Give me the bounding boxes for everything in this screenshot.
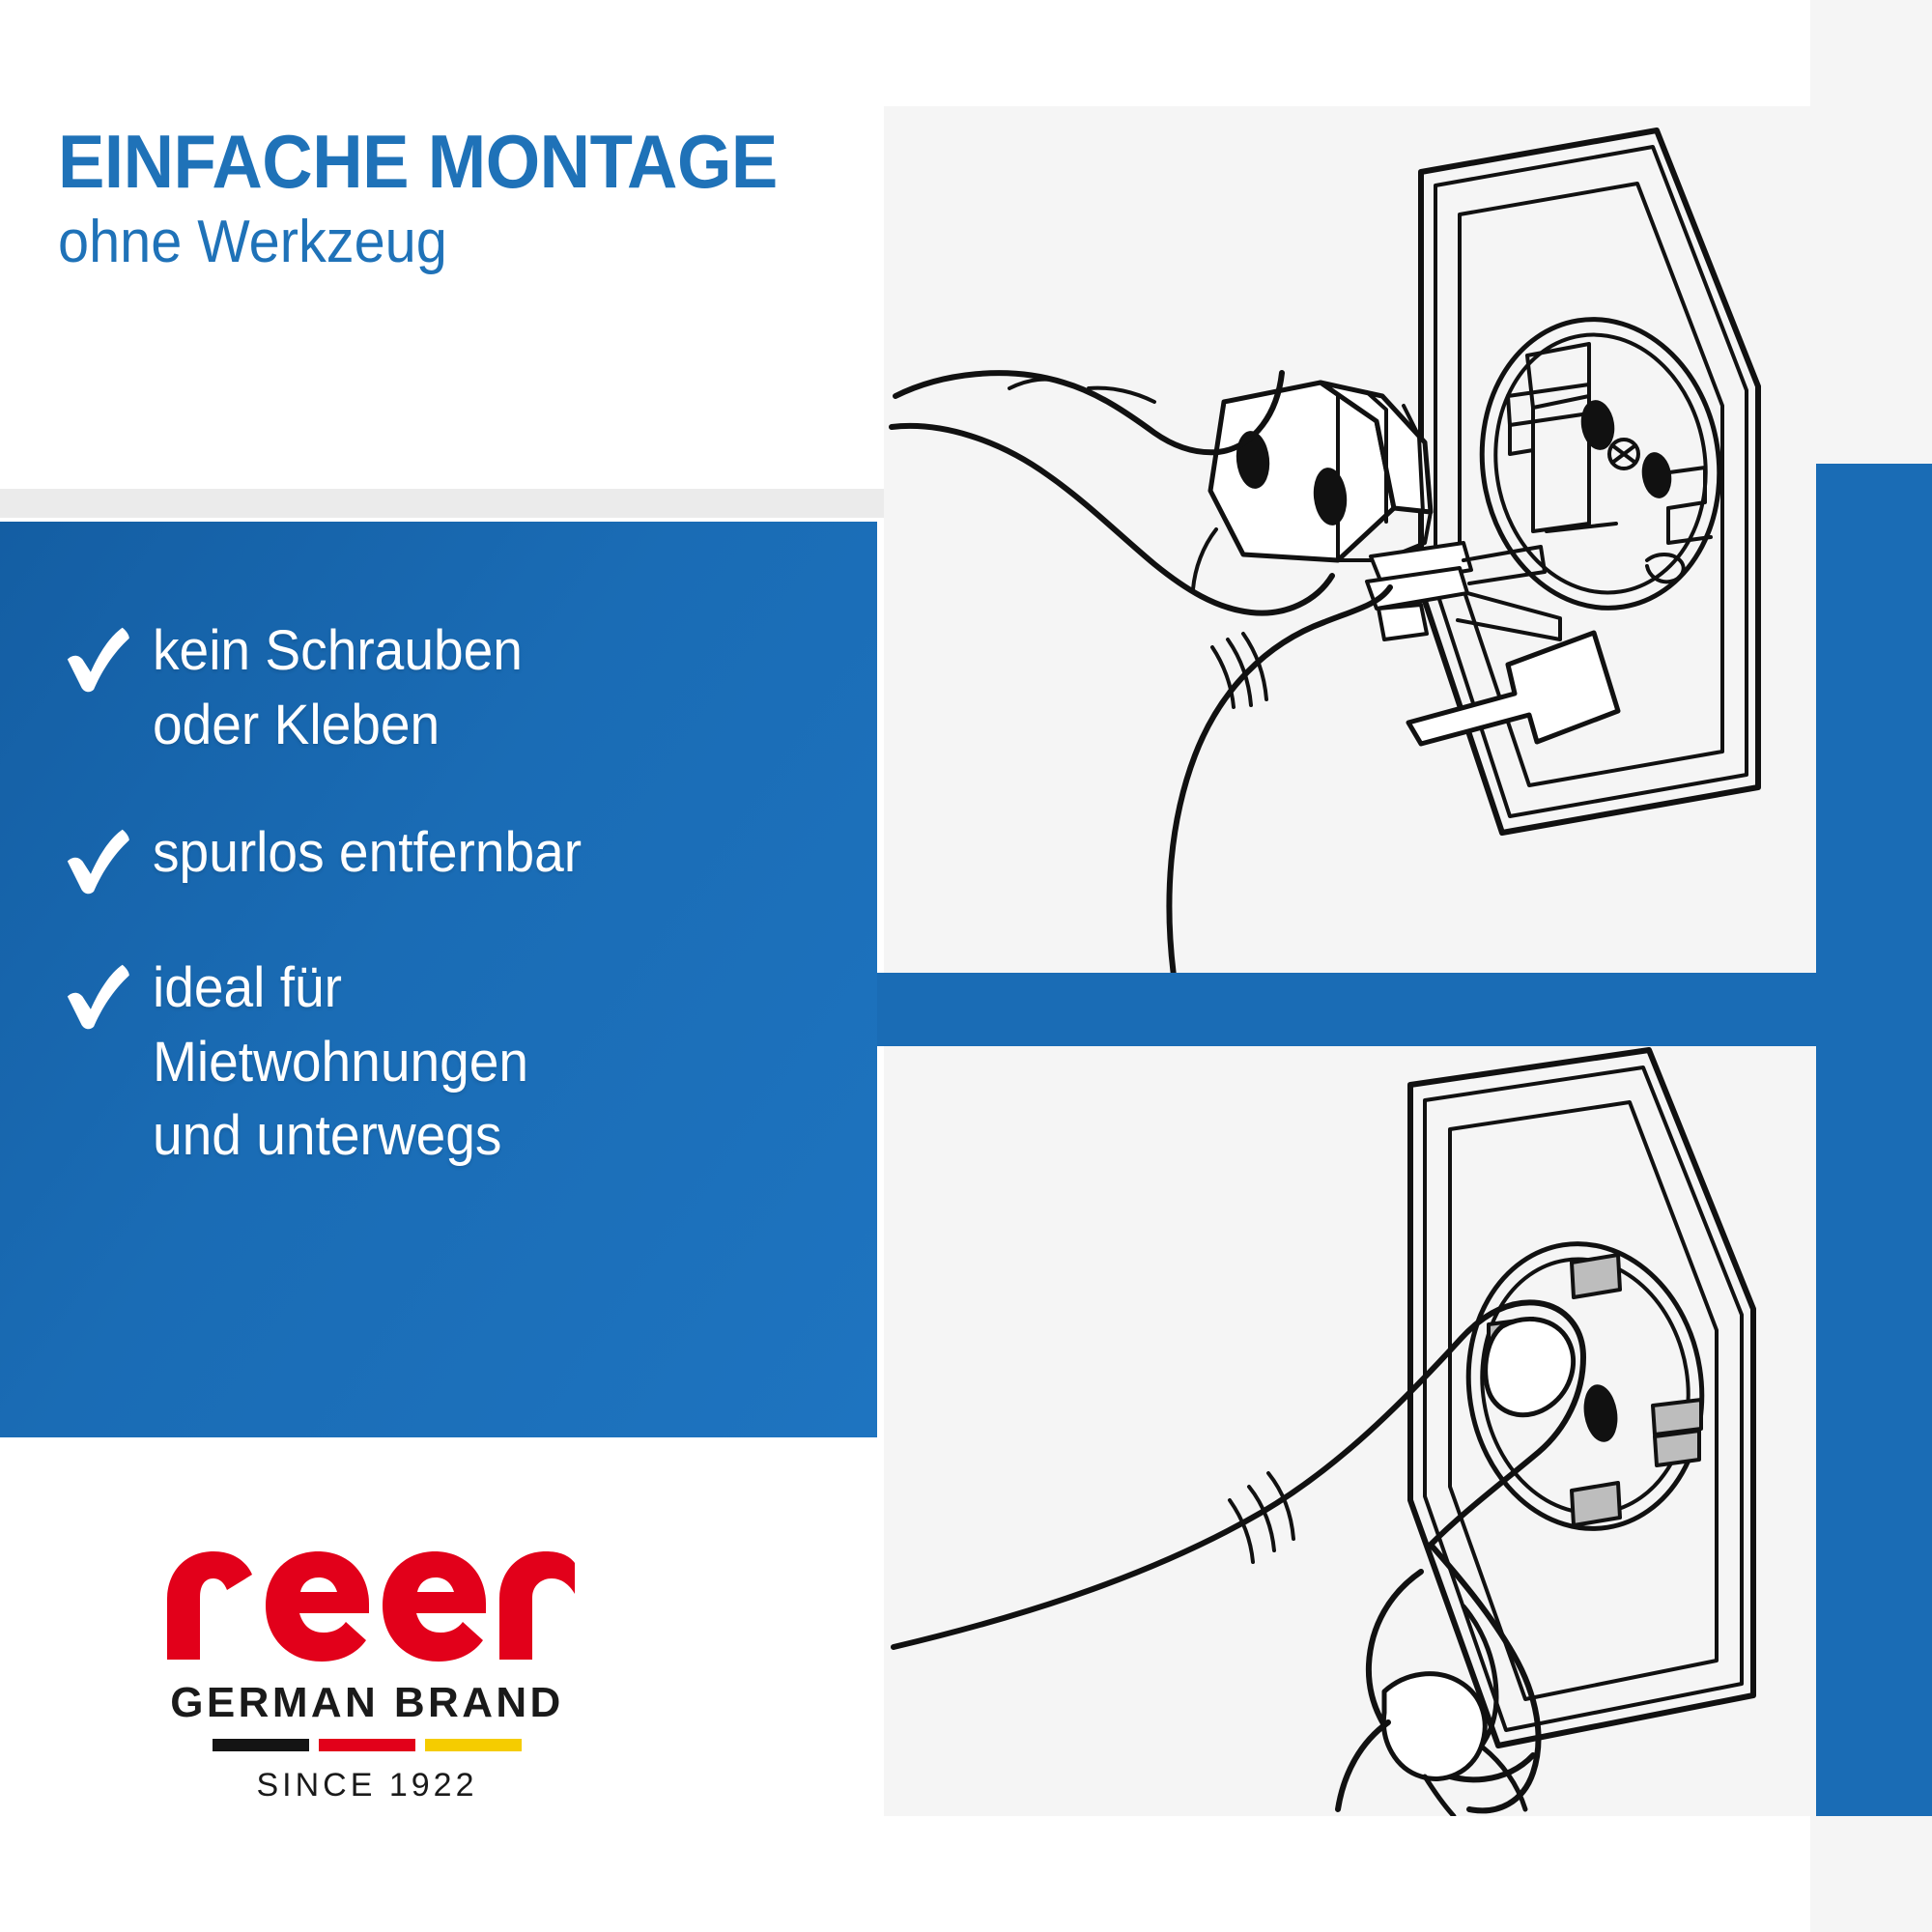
list-item-label: kein Schrauben oder Kleben <box>153 614 523 762</box>
list-item: kein Schrauben oder Kleben <box>60 614 823 762</box>
illustration-insert-cover <box>884 106 1816 973</box>
list-item: ideal für Mietwohnungen und unterwegs <box>60 952 823 1174</box>
background-offwhite-right-lower <box>1810 1816 1932 1932</box>
brand-logo: GERMAN BRAND SINCE 1922 <box>159 1546 575 1804</box>
check-icon <box>60 614 153 696</box>
background-gray-right-top <box>1810 0 1932 464</box>
logo-brand-line: GERMAN BRAND <box>159 1679 575 1727</box>
page-subtitle: ohne Werkzeug <box>58 213 777 272</box>
flag-bar-gold <box>425 1739 522 1751</box>
list-item-label: ideal für Mietwohnungen und unterwegs <box>153 952 528 1174</box>
flag-bar-black <box>213 1739 309 1751</box>
background-blue-right-column <box>1810 464 1932 1932</box>
flag-bar-red <box>319 1739 415 1751</box>
page-title: EINFACHE MONTAGE <box>58 124 777 199</box>
check-icon <box>60 952 153 1033</box>
header-block: EINFACHE MONTAGE ohne Werkzeug <box>58 124 831 272</box>
logo-since-line: SINCE 1922 <box>159 1767 575 1804</box>
german-flag-bars <box>159 1739 575 1751</box>
check-icon <box>60 816 153 897</box>
reer-wordmark <box>159 1546 575 1662</box>
illustration-press-cover <box>884 1046 1816 1816</box>
marketing-banner: EINFACHE MONTAGE ohne Werkzeug kein Schr… <box>0 0 1932 1932</box>
list-item-label: spurlos entfernbar <box>153 816 582 891</box>
list-item: spurlos entfernbar <box>60 816 823 897</box>
feature-list: kein Schrauben oder Kleben spurlos entfe… <box>60 614 823 1174</box>
